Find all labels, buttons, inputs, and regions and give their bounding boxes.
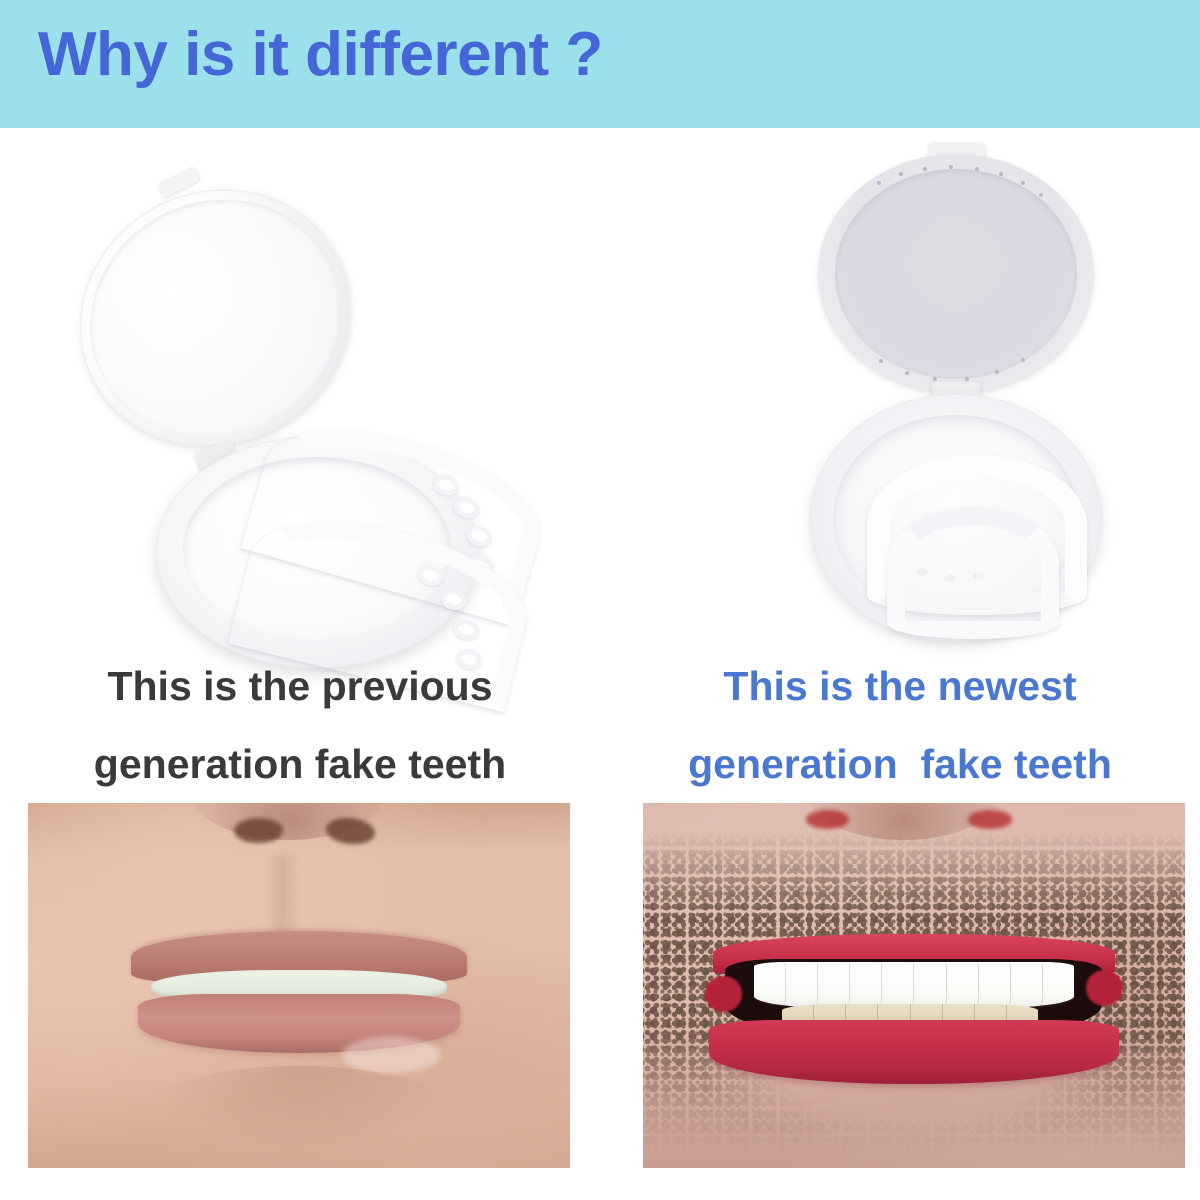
lip-highlight — [342, 1037, 440, 1074]
caption-previous-line2: generation fake teeth — [0, 744, 600, 785]
case-base-icon — [810, 394, 1102, 642]
mouth — [131, 931, 467, 1044]
comparison-column-previous: This is the previous generation fake tee… — [0, 128, 600, 1200]
previous-generation-product-image — [0, 128, 600, 658]
photo-man-smile-newest — [643, 803, 1185, 1168]
case-lid-icon — [818, 154, 1094, 394]
denture-set-icon — [861, 449, 1053, 599]
lower-lip — [709, 1020, 1118, 1084]
chin-shadow — [147, 1066, 451, 1154]
philtrum — [266, 854, 299, 934]
newest-generation-product-image — [600, 128, 1200, 658]
caption-newest-line1: This is the newest — [600, 666, 1200, 707]
lip-corner-right — [1086, 970, 1122, 1006]
teeth-upper-veneers — [754, 962, 1075, 1008]
page-title: Why is it different ? — [38, 16, 603, 94]
vent-dots — [819, 155, 1093, 393]
header-banner: Why is it different ? — [0, 0, 1200, 128]
lip-corner-left — [705, 976, 741, 1012]
caption-previous-line1: This is the previous — [0, 666, 600, 707]
denture-case-new — [810, 142, 1100, 642]
denture-case-old — [60, 178, 560, 658]
mouth — [713, 934, 1114, 1073]
nostril-left — [234, 818, 283, 844]
comparison-content: This is the previous generation fake tee… — [0, 128, 1200, 1200]
caption-newest-line2: generation fake teeth — [600, 744, 1200, 785]
comparison-column-newest: This is the newest generation fake teeth — [600, 128, 1200, 1200]
photo-woman-smile-previous — [28, 803, 570, 1168]
